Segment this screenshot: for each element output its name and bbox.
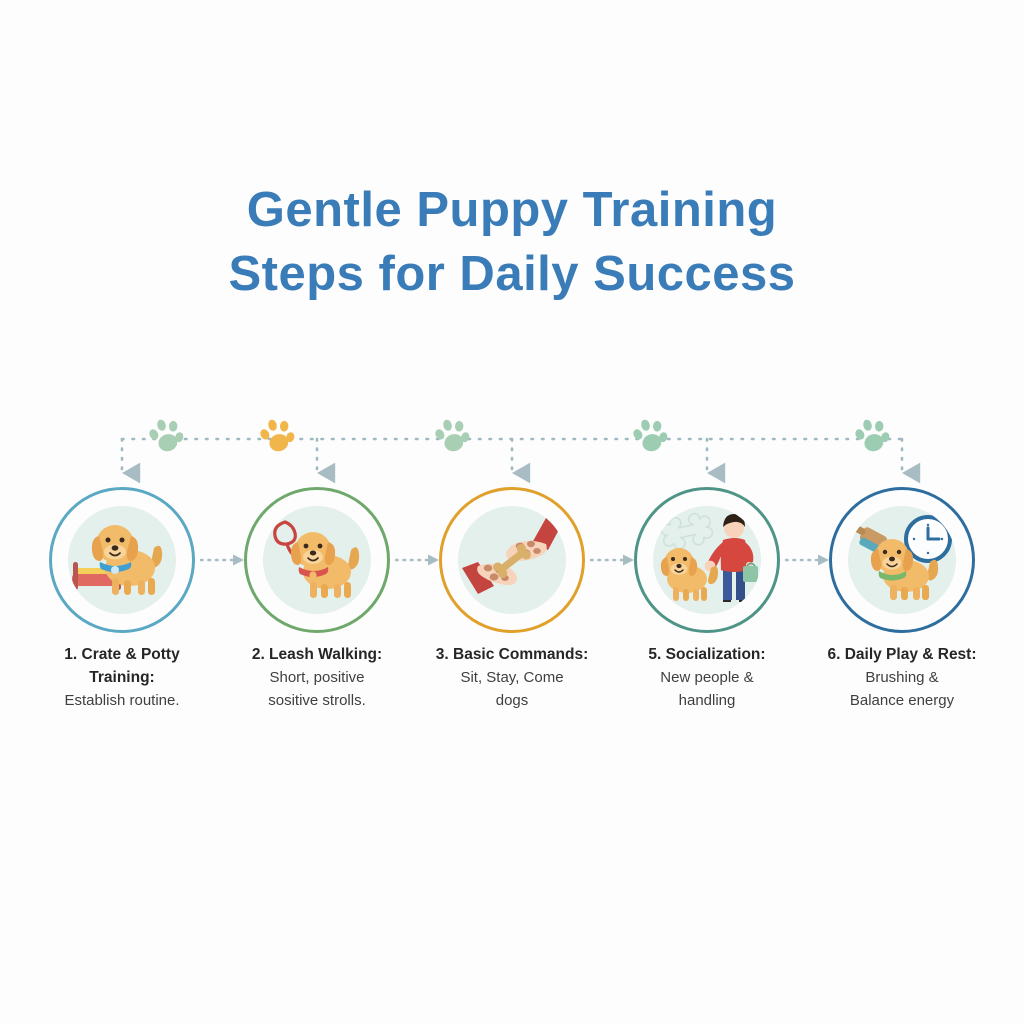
puppy-with-leash-icon [263,506,371,614]
step-node-5[interactable] [829,487,975,633]
caption-body-1a: Establish routine. [28,689,216,712]
caption-body-3b: dogs [418,689,606,712]
caption-body-2b: sositive strolls. [223,689,411,712]
caption-title-5: 6. Daily Play & Rest: [808,643,996,666]
caption-title-3: 3. Basic Commands: [418,643,606,666]
step-node-2[interactable] [244,487,390,633]
person-petting-puppy-icon [653,506,761,614]
paw-print-icon [852,417,892,455]
page-title: Gentle Puppy Training Steps for Daily Su… [0,178,1024,306]
caption-body-4b: handling [613,689,801,712]
step-node-4[interactable] [634,487,780,633]
steps-row [0,487,1024,637]
step-caption-1: 1. Crate & Potty Training: Establish rou… [28,643,216,712]
connector-rail [0,415,1024,490]
caption-body-2a: Short, positive [223,666,411,689]
caption-title-1b: Training: [28,666,216,689]
step-caption-4: 5. Socialization: New people & handling [613,643,801,712]
puppy-icon [661,548,718,601]
paw-print-icon [630,417,670,455]
paw-print-icon [257,417,297,455]
paw-print-icon [146,417,186,455]
step-caption-3: 3. Basic Commands: Sit, Stay, Come dogs [418,643,606,712]
caption-body-3a: Sit, Stay, Come [418,666,606,689]
hands-with-treats-icon [458,506,566,614]
caption-title-1: 1. Crate & Potty [28,643,216,666]
title-line-2: Steps for Daily Success [0,242,1024,306]
caption-body-5a: Brushing & [808,666,996,689]
caption-body-5b: Balance energy [808,689,996,712]
step-caption-5: 6. Daily Play & Rest: Brushing & Balance… [808,643,996,712]
captions-row: 1. Crate & Potty Training: Establish rou… [0,643,1024,738]
step-arrow-2-3 [395,553,441,567]
step-arrow-1-2 [200,553,246,567]
title-line-1: Gentle Puppy Training [0,178,1024,242]
step-caption-2: 2. Leash Walking: Short, positive sositi… [223,643,411,712]
step-arrow-3-4 [590,553,636,567]
puppy-icon [291,532,359,598]
puppy-with-dog-bed-icon [68,506,176,614]
step-node-3[interactable] [439,487,585,633]
caption-title-2: 2. Leash Walking: [223,643,411,666]
caption-title-4: 5. Socialization: [613,643,801,666]
step-arrow-4-5 [785,553,831,567]
puppy-with-brush-and-clock-icon [848,506,956,614]
person-icon [705,514,758,602]
step-node-1[interactable] [49,487,195,633]
paw-print-icon [432,417,472,455]
caption-body-4a: New people & [613,666,801,689]
connector-rail-svg [0,415,1024,490]
